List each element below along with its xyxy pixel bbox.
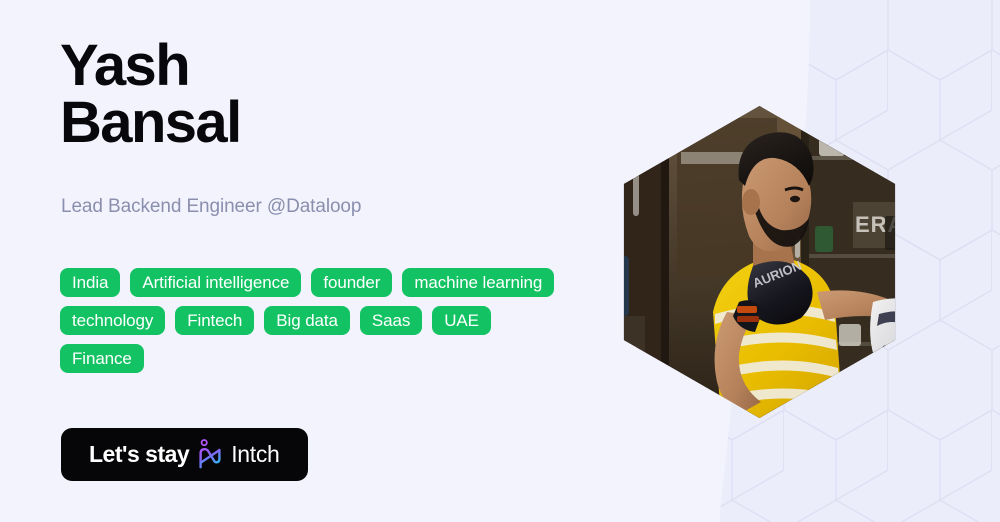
tag-chip[interactable]: Artificial intelligence — [130, 268, 301, 297]
intch-logo-icon — [198, 439, 222, 470]
tag-chip[interactable]: Saas — [360, 306, 422, 335]
lets-stay-intch-button[interactable]: Let's stay Intch — [61, 428, 308, 481]
tag-chip[interactable]: India — [60, 268, 120, 297]
tag-chip[interactable]: technology — [60, 306, 165, 335]
tag-chip[interactable]: UAE — [432, 306, 491, 335]
cta-label-before: Let's stay — [89, 441, 189, 468]
page-title: Yash Bansal — [60, 38, 241, 152]
profile-card: ERA — [0, 0, 1000, 522]
profile-content: Yash Bansal Lead Backend Engineer @Datal… — [60, 0, 620, 522]
profile-headline: Lead Backend Engineer @Dataloop — [61, 196, 361, 218]
tag-chip[interactable]: machine learning — [402, 268, 554, 297]
tag-list: India Artificial intelligence founder ma… — [60, 268, 580, 373]
tag-chip[interactable]: Big data — [264, 306, 350, 335]
tag-chip[interactable]: Fintech — [175, 306, 254, 335]
tag-chip[interactable]: Finance — [60, 344, 144, 373]
tag-chip[interactable]: founder — [311, 268, 392, 297]
cta-label-after: Intch — [231, 441, 279, 468]
